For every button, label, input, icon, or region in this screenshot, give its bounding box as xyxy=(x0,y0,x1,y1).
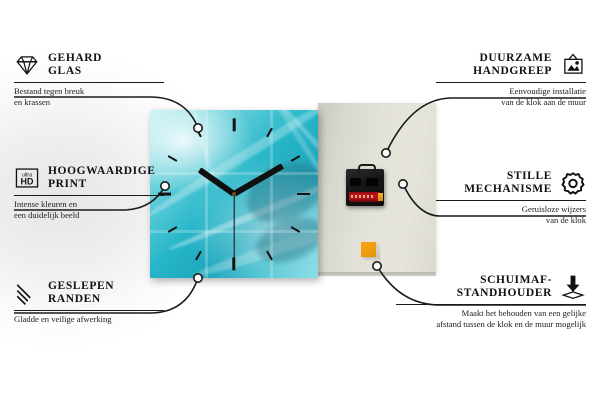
feature-title-line1: DUURZAME xyxy=(473,52,552,65)
feature-stille-mechanisme: STILLE MECHANISME Geruisloze wijzers van… xyxy=(436,170,586,225)
battery-plus-terminal xyxy=(378,193,383,201)
mechanism-slot-left xyxy=(350,178,361,186)
feature-desc-line2: van de klok xyxy=(436,215,586,226)
glass-reflection-line xyxy=(270,110,273,278)
clock-center-cap xyxy=(232,192,236,196)
clock-face xyxy=(150,110,318,278)
feature-desc-line1: Intense kleuren en xyxy=(14,199,164,210)
feature-desc-line1: Eenvoudige installatie xyxy=(436,86,586,97)
clock-tick xyxy=(297,193,310,196)
ultra-hd-icon: ultra HD xyxy=(14,165,40,191)
feature-title-line1: GEHARD xyxy=(48,52,102,65)
clock-tick xyxy=(233,257,236,270)
infographic-canvas: GEHARD GLAS Bestand tegen breuk en krass… xyxy=(0,0,600,400)
feature-title-line2: PRINT xyxy=(48,178,156,191)
feature-desc-line1: Geruisloze wijzers xyxy=(436,204,586,215)
svg-text:HD: HD xyxy=(21,177,34,187)
clock-second-hand xyxy=(233,194,234,258)
glass-reflection-line xyxy=(205,110,208,278)
feature-title-line2: RANDEN xyxy=(48,293,114,306)
clock-tick xyxy=(195,251,202,261)
feature-desc-line1: Bestand tegen breuk xyxy=(14,86,164,97)
feature-title-line2: MECHANISME xyxy=(464,183,552,196)
feature-desc-line2: een duidelijk beeld xyxy=(14,210,164,221)
glass-reflection-line xyxy=(150,172,318,175)
feature-title-line2: STANDHOUDER xyxy=(457,287,552,300)
feature-desc-line2: afstand tussen de klok en de muur mogeli… xyxy=(396,319,586,330)
diamond-icon xyxy=(14,52,40,78)
feature-title-line1: STILLE xyxy=(464,170,552,183)
feature-title-line1: SCHUIMAF- xyxy=(457,274,552,287)
feature-desc-line1: Maakt het behouden van een gelijke xyxy=(396,308,586,319)
bevelled-edges-icon xyxy=(14,280,40,306)
feature-hoogwaardige-print: ultra HD HOOGWAARDIGE PRINT Intense kleu… xyxy=(14,165,164,220)
feature-duurzame-handgreep: DUURZAME HANDGREEP Eenvoudige installati… xyxy=(436,52,586,107)
feature-desc-line1: Gladde en veilige afwerking xyxy=(14,314,164,325)
gear-icon xyxy=(560,170,586,196)
mechanism-slot-right xyxy=(366,178,378,186)
battery xyxy=(349,192,380,202)
feature-geslepen-randen: GESLEPEN RANDEN Gladde en veilige afwerk… xyxy=(14,280,164,325)
picture-hanger-icon xyxy=(560,52,586,78)
feature-title-line1: GESLEPEN xyxy=(48,280,114,293)
feature-title-line1: HOOGWAARDIGE xyxy=(48,165,156,178)
feature-title-line2: HANDGREEP xyxy=(473,65,552,78)
clock-tick xyxy=(233,118,236,131)
clock-tick xyxy=(168,155,178,162)
clock-tick xyxy=(291,155,301,162)
battery-label xyxy=(351,195,373,198)
feature-title-line2: GLAS xyxy=(48,65,102,78)
feature-desc-line2: en krassen xyxy=(14,97,164,108)
foam-spacer xyxy=(361,242,376,257)
feature-desc-line2: van de klok aan de muur xyxy=(436,97,586,108)
mechanism-hanger xyxy=(358,164,376,173)
feature-schuimaf-standhouder: SCHUIMAF- STANDHOUDER Maakt het behouden… xyxy=(396,274,586,329)
foam-spacer-arrow-icon xyxy=(560,274,586,300)
clock-mechanism xyxy=(346,169,384,206)
feature-gehard-glas: GEHARD GLAS Bestand tegen breuk en krass… xyxy=(14,52,164,107)
